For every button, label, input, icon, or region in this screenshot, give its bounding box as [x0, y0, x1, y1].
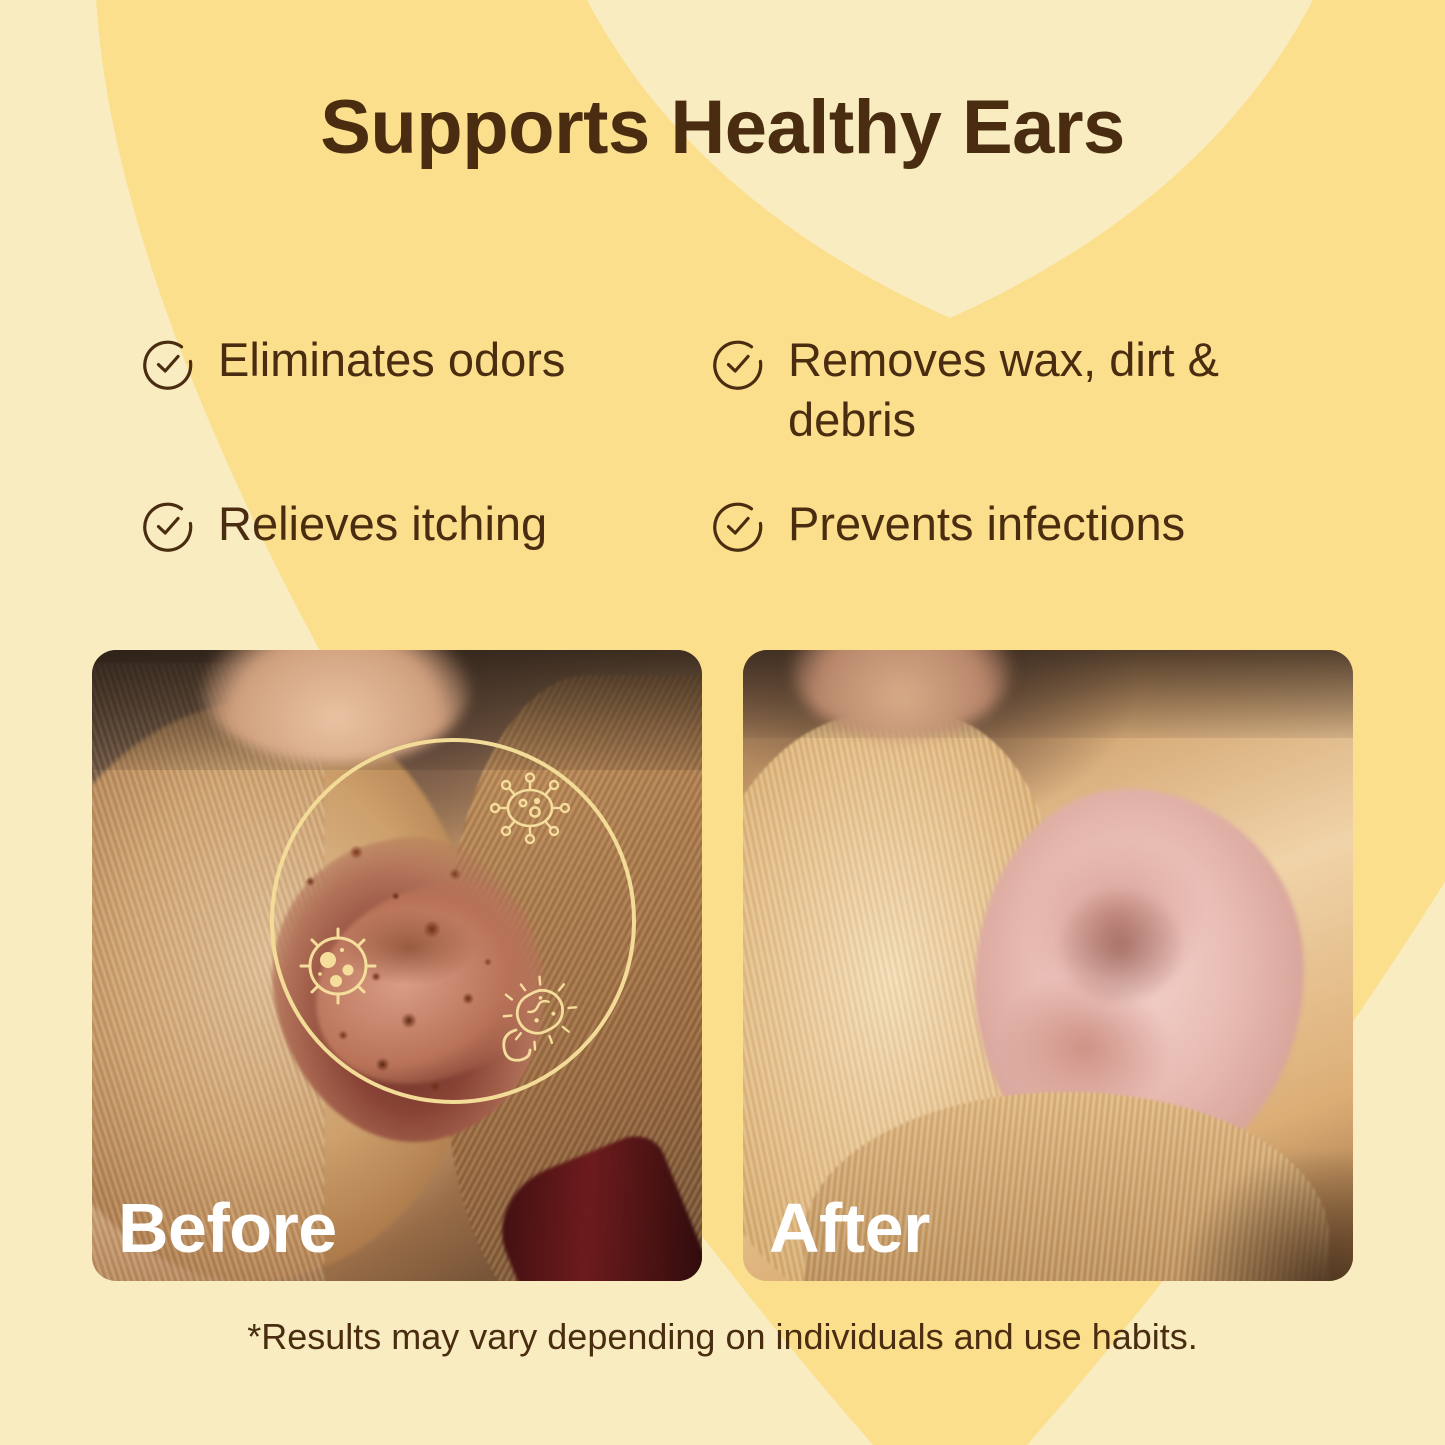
page-title: Supports Healthy Ears — [0, 84, 1445, 171]
product-benefit-graphic: Supports Healthy Ears Eliminates odors R… — [0, 0, 1445, 1445]
benefit-item-prevents-infections: Prevents infections — [710, 494, 1300, 554]
check-circle-icon — [710, 336, 766, 392]
before-after-comparison: Before After — [92, 650, 1353, 1281]
before-photo-panel: Before — [92, 650, 702, 1281]
check-circle-icon — [140, 336, 196, 392]
dog-ear-dirty-photo — [92, 650, 702, 1281]
benefit-item-removes-wax-dirt-debris: Removes wax, dirt & debris — [710, 330, 1300, 450]
benefit-label: Removes wax, dirt & debris — [788, 330, 1298, 450]
check-circle-icon — [140, 498, 196, 554]
before-caption: Before — [118, 1193, 337, 1263]
benefit-item-relieves-itching: Relieves itching — [140, 494, 710, 554]
benefits-list: Eliminates odors Removes wax, dirt & deb… — [140, 330, 1320, 554]
after-caption: After — [769, 1193, 930, 1263]
disclaimer-footnote: *Results may vary depending on individua… — [0, 1316, 1445, 1358]
benefit-item-eliminates-odors: Eliminates odors — [140, 330, 710, 450]
benefit-label: Eliminates odors — [218, 330, 565, 390]
benefit-label: Relieves itching — [218, 494, 547, 554]
after-photo-panel: After — [743, 650, 1353, 1281]
benefit-label: Prevents infections — [788, 494, 1185, 554]
dog-ear-clean-photo — [743, 650, 1353, 1281]
check-circle-icon — [710, 498, 766, 554]
